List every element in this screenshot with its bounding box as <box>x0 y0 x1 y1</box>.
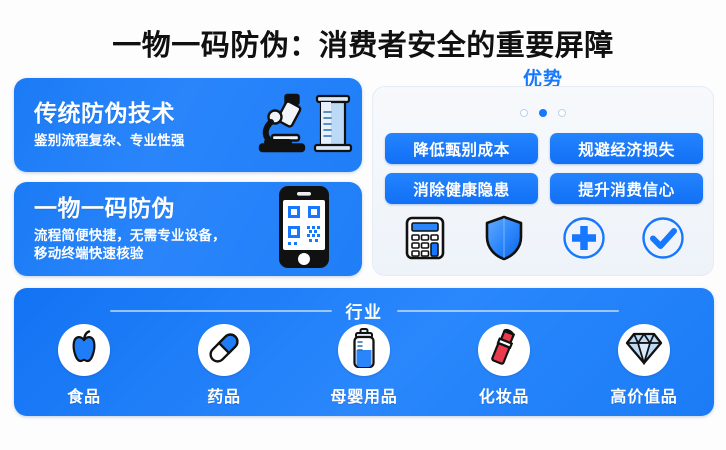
industry-icon-circle <box>618 324 670 376</box>
microscope-icon <box>255 92 311 159</box>
feature-card-onecode-subtitle: 流程简便快捷，无需专业设备， 移动终端快速核验 <box>34 227 246 263</box>
industry-label-high-value: 高价值品 <box>610 383 677 407</box>
industry-icon-circle <box>198 324 250 376</box>
industry-label-maternal-infant: 母婴用品 <box>330 383 397 407</box>
industry-icon-circle <box>478 324 530 376</box>
advantage-button-reduce-cost[interactable]: 降低甄别成本 <box>385 133 538 164</box>
beaker-icon <box>313 92 353 159</box>
carousel-dot-1[interactable] <box>520 109 528 117</box>
feature-card-onecode-title: 一物一码防伪 <box>34 195 246 221</box>
feature-card-traditional-subtitle: 鉴别流程复杂、专业性强 <box>34 132 246 150</box>
baby-bottle-icon <box>350 328 378 373</box>
header-divider-right <box>397 310 619 312</box>
advantage-icons-row <box>385 213 703 263</box>
industry-item-maternal-infant[interactable]: 母婴用品 <box>299 324 429 407</box>
header-divider-left <box>110 310 332 312</box>
carousel-dot-3[interactable] <box>558 109 566 117</box>
industry-label-medicine: 药品 <box>207 383 241 407</box>
industry-label-food: 食品 <box>67 383 101 407</box>
check-circle-icon <box>640 215 686 261</box>
industry-icon-circle <box>58 324 110 376</box>
feature-card-onecode-subtitle-line2: 移动终端快速核验 <box>34 245 246 263</box>
feature-cards-column: 传统防伪技术 鉴别流程复杂、专业性强 <box>14 78 362 276</box>
feature-card-onecode-subtitle-line1: 流程简便快捷，无需专业设备， <box>34 227 246 245</box>
advantage-button-avoid-loss[interactable]: 规避经济损失 <box>550 133 703 164</box>
feature-card-traditional-title: 传统防伪技术 <box>34 100 246 126</box>
infographic-page: 一物一码防伪：消费者安全的重要屏障 传统防伪技术 鉴别流程复杂、专业性强 <box>0 0 726 450</box>
diamond-icon <box>625 331 663 370</box>
carousel-dots[interactable] <box>373 109 713 117</box>
industries-header: 行业 <box>14 298 714 323</box>
shield-icon <box>481 215 527 261</box>
industry-item-high-value[interactable]: 高价值品 <box>579 324 709 407</box>
phone-qrcode-icon <box>278 185 330 274</box>
lipstick-icon <box>487 328 521 373</box>
calculator-icon <box>402 215 448 261</box>
feature-card-onecode-text: 一物一码防伪 流程简便快捷，无需专业设备， 移动终端快速核验 <box>14 195 246 262</box>
industries-list: 食品 药品 <box>14 324 714 407</box>
industry-label-cosmetics: 化妆品 <box>479 383 529 407</box>
industry-item-cosmetics[interactable]: 化妆品 <box>439 324 569 407</box>
carousel-dot-2-active[interactable] <box>539 109 547 117</box>
advantage-button-health-risk[interactable]: 消除健康隐患 <box>385 173 538 204</box>
advantage-button-confidence[interactable]: 提升消费信心 <box>550 173 703 204</box>
industry-item-food[interactable]: 食品 <box>19 324 149 407</box>
industries-heading: 行业 <box>346 298 383 323</box>
feature-card-onecode-icons <box>246 182 362 276</box>
industry-item-medicine[interactable]: 药品 <box>159 324 289 407</box>
feature-card-traditional[interactable]: 传统防伪技术 鉴别流程复杂、专业性强 <box>14 78 362 172</box>
pill-icon <box>206 330 242 371</box>
plus-circle-icon <box>561 215 607 261</box>
apple-icon <box>67 330 101 371</box>
page-title: 一物一码防伪：消费者安全的重要屏障 <box>0 22 726 64</box>
advantages-panel: 降低甄别成本 规避经济损失 消除健康隐患 提升消费信心 <box>372 86 714 276</box>
industries-panel: 行业 食品 <box>14 288 714 416</box>
industry-icon-circle <box>338 324 390 376</box>
feature-card-traditional-text: 传统防伪技术 鉴别流程复杂、专业性强 <box>14 100 246 149</box>
advantage-buttons: 降低甄别成本 规避经济损失 消除健康隐患 提升消费信心 <box>385 133 703 204</box>
feature-card-onecode[interactable]: 一物一码防伪 流程简便快捷，无需专业设备， 移动终端快速核验 <box>14 182 362 276</box>
feature-card-traditional-icons <box>246 78 362 172</box>
